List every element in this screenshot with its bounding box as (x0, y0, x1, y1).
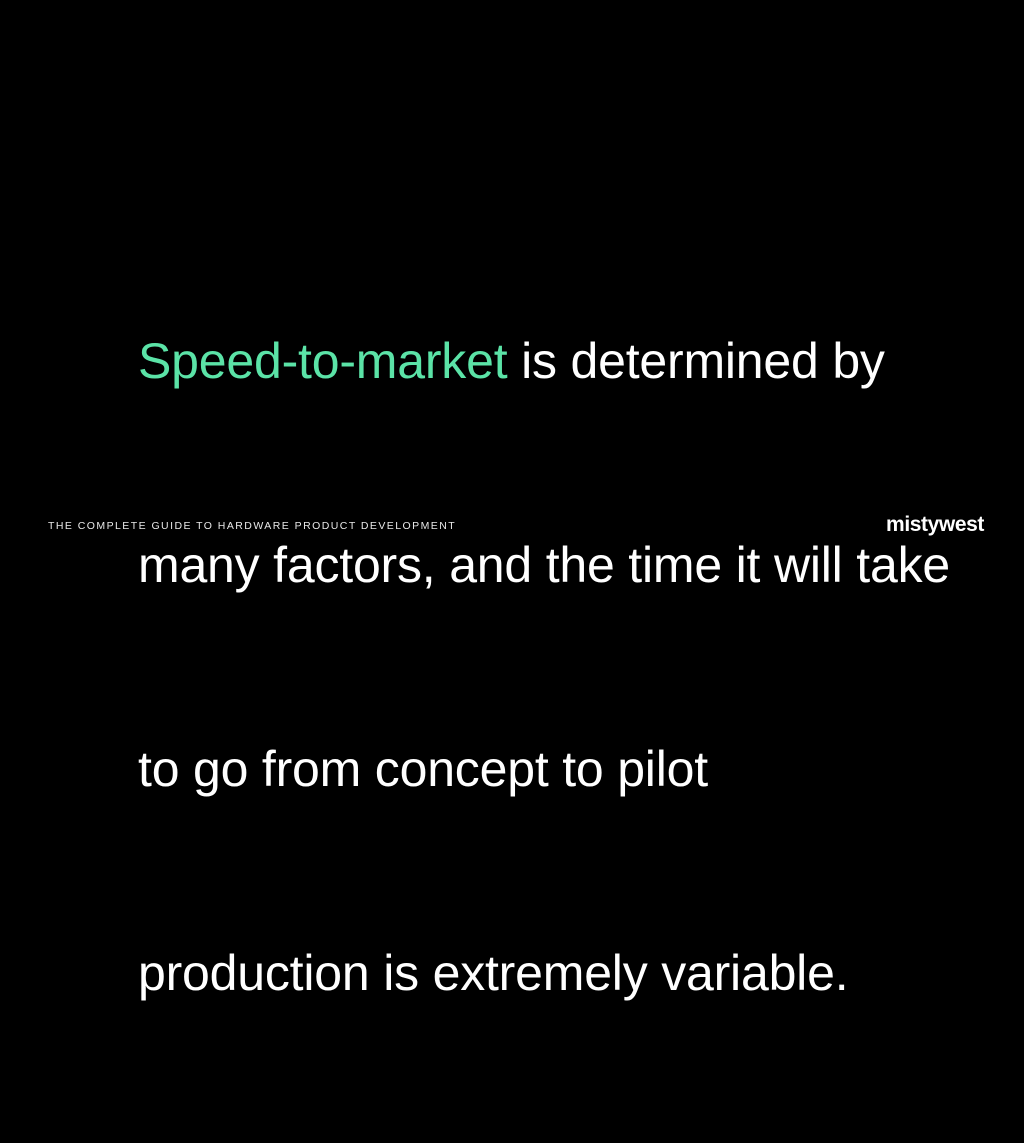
slide-footer: THE COMPLETE GUIDE TO HARDWARE PRODUCT D… (0, 506, 1024, 556)
quote-line-1: Speed-to-market is determined by (138, 327, 998, 395)
quote-line-3: to go from concept to pilot (138, 735, 998, 803)
footer-caption: THE COMPLETE GUIDE TO HARDWARE PRODUCT D… (48, 520, 456, 532)
quote-highlight-term: Speed-to-market (138, 333, 507, 389)
slide: Speed-to-market is determined by many fa… (0, 0, 1024, 576)
quote-line-1-rest: is determined by (507, 333, 884, 389)
quote-block: Speed-to-market is determined by many fa… (138, 191, 998, 1143)
quote-line-4: production is extremely variable. (138, 939, 998, 1007)
mistywest-logo: mistywest (886, 513, 984, 537)
